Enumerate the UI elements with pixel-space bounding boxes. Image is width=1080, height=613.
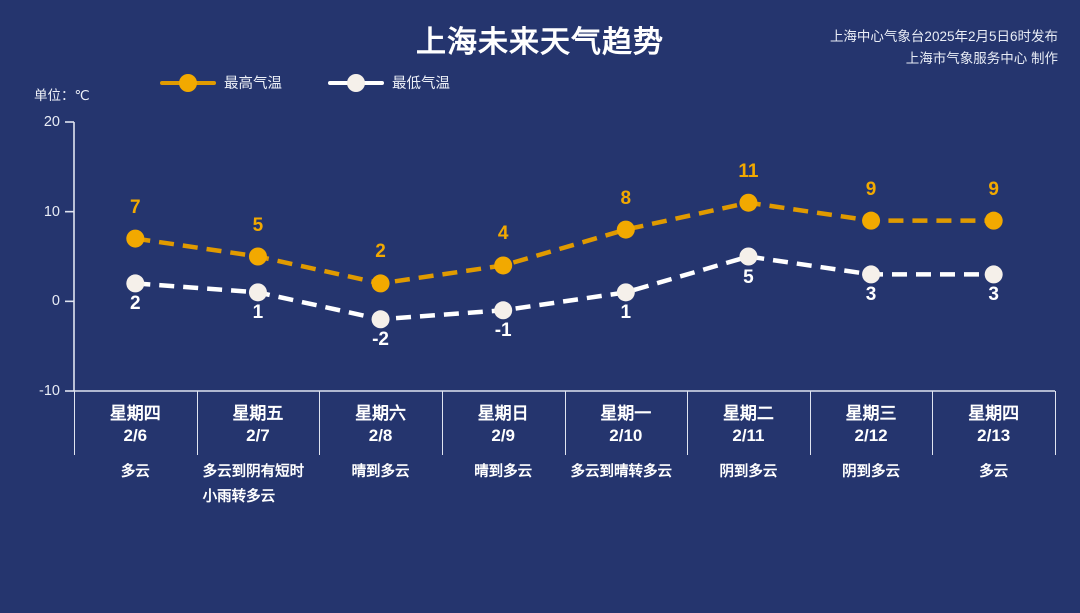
day-column[interactable]: 星期六2/8晴到多云 [319, 391, 442, 541]
low-temp-marker-icon [328, 73, 384, 93]
high-temp-value-label: 9 [988, 179, 999, 201]
attribution-issuer: 上海中心气象台2025年2月5日6时发布 [830, 26, 1058, 48]
day-weekday-label: 星期四 [74, 399, 197, 424]
unit-label: 单位：℃ [34, 84, 90, 104]
day-column[interactable]: 星期三2/12阴到多云 [810, 391, 933, 541]
day-column[interactable]: 星期五2/7多云到阴有短时小雨转多云 [197, 391, 320, 541]
low-temp-value-label: 5 [743, 267, 754, 289]
legend-item-low-temp[interactable]: 最低气温 [328, 72, 450, 93]
y-tick-label: 20 [16, 114, 60, 130]
data-series [126, 194, 1002, 329]
day-condition-label: 阴到多云 [693, 460, 804, 485]
day-column-end [1055, 391, 1056, 541]
high-temp-value-label: 9 [866, 179, 877, 201]
low-temp-value-label: 1 [253, 302, 264, 324]
day-column[interactable]: 星期四2/13多云 [932, 391, 1055, 541]
day-condition-label: 晴到多云 [448, 460, 559, 485]
day-date-label: 2/11 [687, 426, 810, 446]
low-temp-value-label: -1 [495, 320, 512, 342]
legend-label-low-temp: 最低气温 [392, 72, 450, 93]
high-temp-value-label: 8 [621, 188, 632, 210]
day-weekday-label: 星期六 [319, 399, 442, 424]
day-condition-label: 阴到多云 [816, 460, 927, 485]
day-date-label: 2/6 [74, 426, 197, 446]
day-condition-label: 多云到阴有短时小雨转多云 [203, 460, 314, 510]
low-temp-value-label: 3 [866, 284, 877, 306]
day-condition-label: 多云 [938, 460, 1049, 485]
high-temp-value-label: 7 [130, 197, 141, 219]
day-weekday-label: 星期一 [565, 399, 688, 424]
day-column[interactable]: 星期二2/11阴到多云 [687, 391, 810, 541]
column-divider [1055, 391, 1056, 455]
day-weekday-label: 星期二 [687, 399, 810, 424]
low-temp-value-label: 1 [621, 302, 632, 324]
day-column[interactable]: 星期四2/6多云 [74, 391, 197, 541]
high-temp-value-label: 5 [253, 215, 264, 237]
day-weekday-label: 星期五 [197, 399, 320, 424]
day-date-label: 2/12 [810, 426, 933, 446]
legend-item-high-temp[interactable]: 最高气温 [160, 72, 282, 93]
day-column[interactable]: 星期日2/9晴到多云 [442, 391, 565, 541]
day-date-label: 2/9 [442, 426, 565, 446]
day-date-label: 2/10 [565, 426, 688, 446]
axes [65, 122, 1055, 391]
low-temp-value-label: -2 [372, 329, 389, 351]
day-condition-label: 晴到多云 [325, 460, 436, 485]
high-temp-value-label: 2 [375, 241, 386, 263]
attribution-block: 上海中心气象台2025年2月5日6时发布 上海市气象服务中心 制作 [830, 26, 1058, 70]
day-date-label: 2/13 [932, 426, 1055, 446]
day-weekday-label: 星期日 [442, 399, 565, 424]
day-weekday-label: 星期四 [932, 399, 1055, 424]
low-temp-value-label: 2 [130, 293, 141, 315]
high-temp-marker-icon [160, 73, 216, 93]
day-date-label: 2/7 [197, 426, 320, 446]
y-tick-label: 0 [16, 293, 60, 309]
high-temp-value-label: 4 [498, 223, 509, 245]
day-condition-label: 多云到晴转多云 [571, 460, 682, 485]
chart-legend: 最高气温 最低气温 [160, 72, 450, 93]
x-axis-day-columns: 星期四2/6多云星期五2/7多云到阴有短时小雨转多云星期六2/8晴到多云星期日2… [74, 391, 1055, 541]
y-tick-label: -10 [16, 383, 60, 399]
chart-header: 上海未来天气趋势 上海中心气象台2025年2月5日6时发布 上海市气象服务中心 … [0, 0, 1080, 110]
day-weekday-label: 星期三 [810, 399, 933, 424]
y-tick-label: 10 [16, 204, 60, 220]
high-temp-value-label: 11 [738, 161, 758, 183]
legend-label-high-temp: 最高气温 [224, 72, 282, 93]
day-condition-label: 多云 [80, 460, 191, 485]
day-date-label: 2/8 [319, 426, 442, 446]
low-temp-value-label: 3 [988, 284, 999, 306]
day-column[interactable]: 星期一2/10多云到晴转多云 [565, 391, 688, 541]
attribution-producer: 上海市气象服务中心 制作 [830, 48, 1058, 70]
